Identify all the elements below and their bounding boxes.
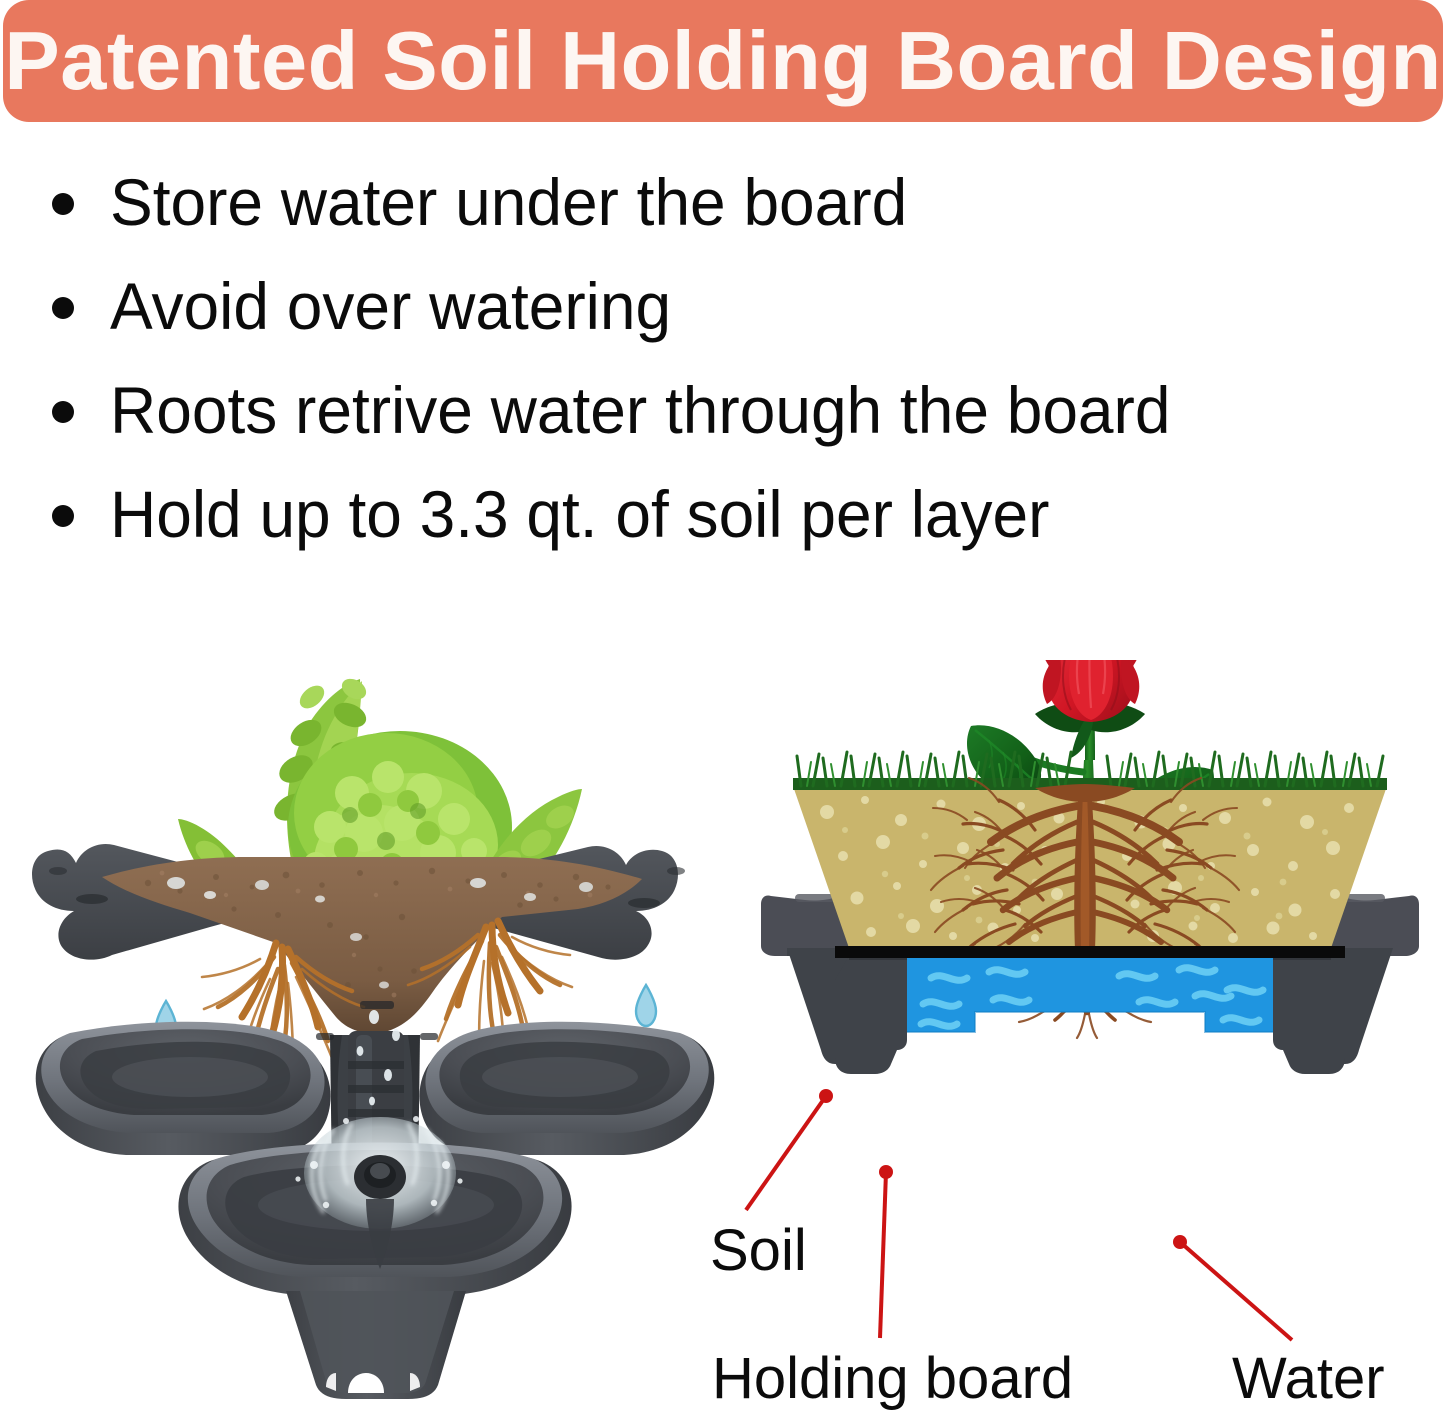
bullet-dot-icon <box>52 401 74 423</box>
callout-label-holding-board: Holding board <box>712 1350 1073 1408</box>
header-banner: Patented Soil Holding Board Design <box>3 0 1443 122</box>
feature-bullet-list: Store water under the board Avoid over w… <box>0 150 1420 566</box>
bullet-label: Roots retrive water through the board <box>110 377 1170 443</box>
list-item: Store water under the board <box>0 150 1420 254</box>
bullet-label: Hold up to 3.3 qt. of soil per layer <box>110 481 1049 547</box>
list-item: Avoid over watering <box>0 254 1420 358</box>
bullet-dot-icon <box>52 193 74 215</box>
list-item: Hold up to 3.3 qt. of soil per layer <box>0 462 1420 566</box>
cross-section-diagram <box>735 660 1445 1240</box>
stackable-planter-photo <box>30 565 720 1400</box>
list-item: Roots retrive water through the board <box>0 358 1420 462</box>
page-title: Patented Soil Holding Board Design <box>4 13 1441 109</box>
callout-label-soil: Soil <box>710 1222 807 1280</box>
callout-label-water: Water <box>1232 1350 1385 1408</box>
bullet-dot-icon <box>52 297 74 319</box>
planter-body <box>36 1001 715 1399</box>
bullet-label: Store water under the board <box>110 169 907 235</box>
bullet-dot-icon <box>52 505 74 527</box>
bullet-label: Avoid over watering <box>110 273 671 339</box>
holding-board <box>835 946 1345 958</box>
